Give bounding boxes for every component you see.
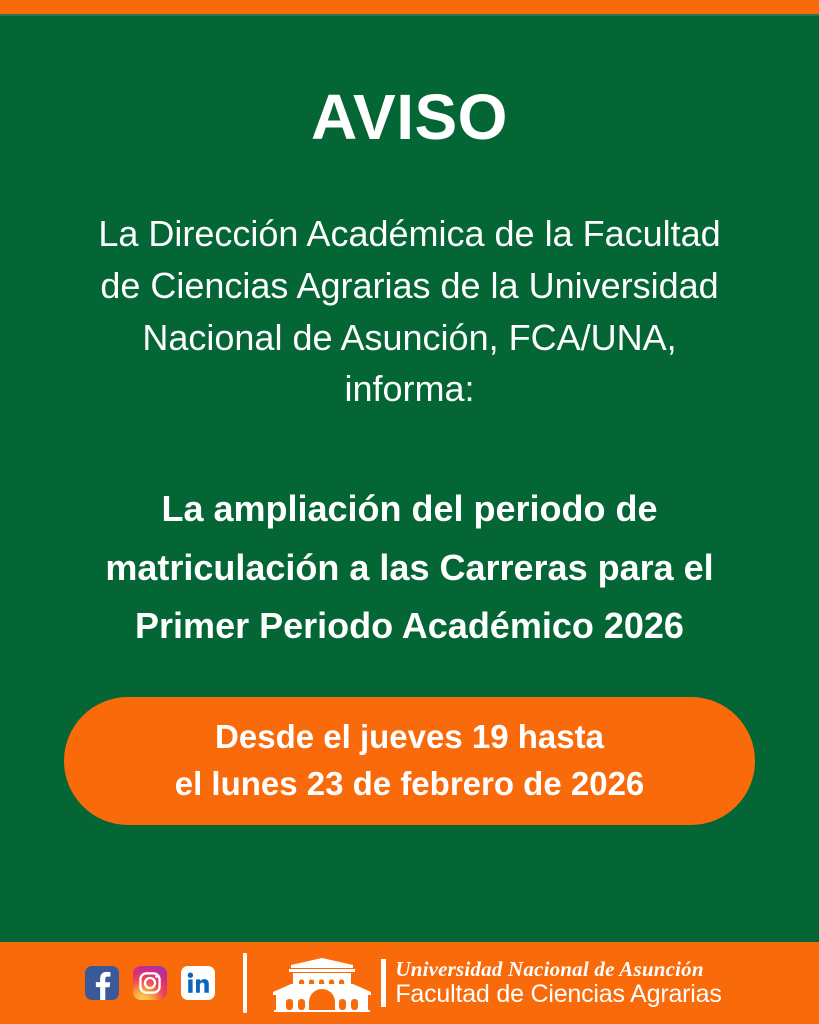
- intro-line: de Ciencias Agrarias de la Universidad: [75, 260, 744, 312]
- intro-line: Nacional de Asunción, FCA/UNA,: [75, 312, 744, 364]
- announcement-poster: AVISO La Dirección Académica de la Facul…: [0, 0, 819, 1024]
- date-range-line-1: Desde el jueves 19 hasta: [215, 714, 604, 761]
- university-brand: Universidad Nacional de Asunción Faculta…: [269, 954, 721, 1012]
- statement-line: La ampliación del periodo de: [62, 480, 757, 539]
- page-title: AVISO: [0, 85, 819, 149]
- una-building-emblem: [269, 954, 375, 1012]
- intro-line: informa:: [75, 363, 744, 415]
- intro-line: La Dirección Académica de la Facultad: [75, 208, 744, 260]
- facebook-icon[interactable]: [85, 966, 119, 1000]
- intro-paragraph: La Dirección Académica de la Facultad de…: [75, 208, 744, 415]
- brand-university-name: Universidad Nacional de Asunción: [395, 959, 721, 980]
- date-range-line-2: el lunes 23 de febrero de 2026: [175, 761, 645, 808]
- instagram-icon[interactable]: [133, 966, 167, 1000]
- social-links: [85, 966, 215, 1000]
- brand-vertical-rule: [381, 959, 386, 1007]
- brand-faculty-name: Facultad de Ciencias Agrarias: [395, 982, 721, 1007]
- statement-line: matriculación a las Carreras para el: [62, 539, 757, 598]
- statement-line: Primer Periodo Académico 2026: [62, 597, 757, 656]
- statement-paragraph: La ampliación del periodo de matriculaci…: [62, 480, 757, 656]
- top-accent-bar: [0, 0, 819, 14]
- footer-bar: Universidad Nacional de Asunción Faculta…: [0, 942, 819, 1024]
- brand-text-block: Universidad Nacional de Asunción Faculta…: [395, 959, 721, 1007]
- linkedin-icon[interactable]: [181, 966, 215, 1000]
- date-range-badge: Desde el jueves 19 hasta el lunes 23 de …: [64, 697, 755, 825]
- footer-divider: [243, 953, 247, 1013]
- footer-content: Universidad Nacional de Asunción Faculta…: [85, 953, 721, 1013]
